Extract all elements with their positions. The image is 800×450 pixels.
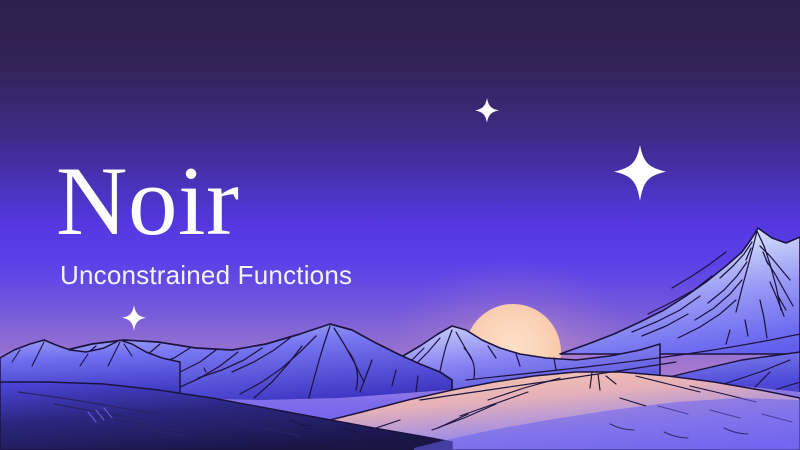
illustration-scene [0, 0, 800, 450]
slide-canvas: Noir Unconstrained Functions [0, 0, 800, 450]
